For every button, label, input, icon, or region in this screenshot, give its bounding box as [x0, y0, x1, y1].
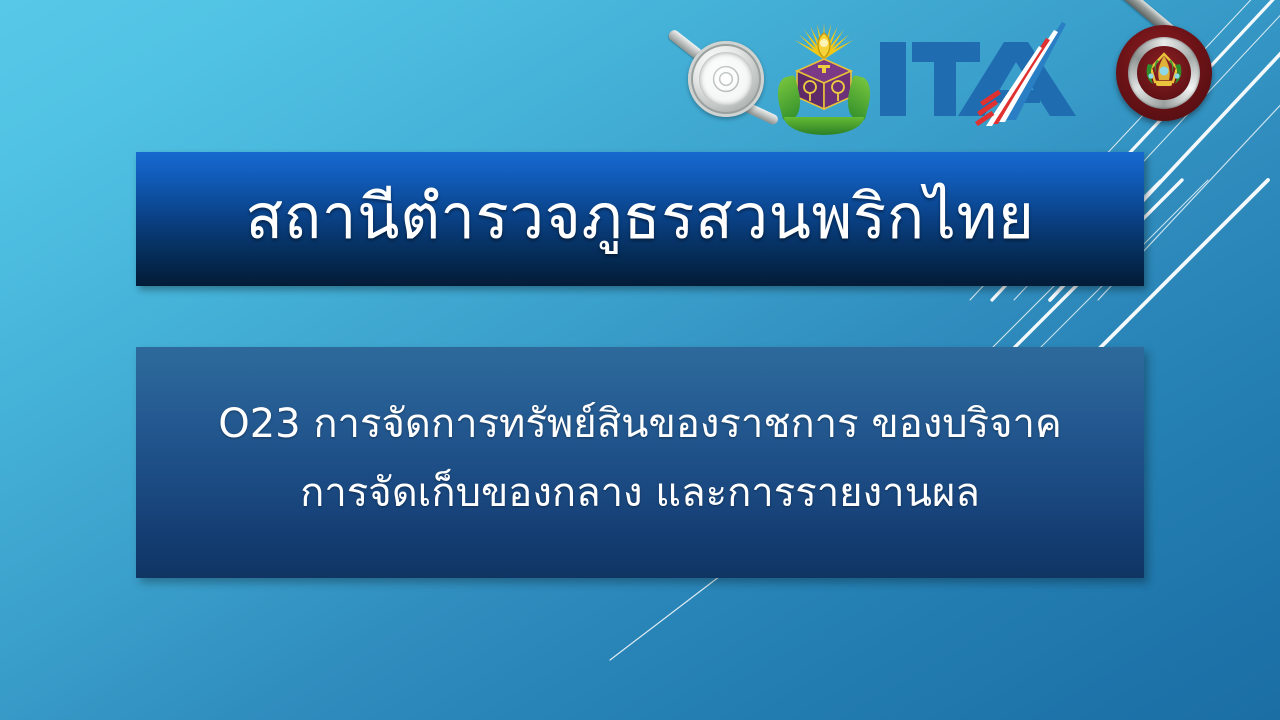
ita-logo: [876, 16, 1098, 136]
police-station-seal-icon: [1102, 11, 1220, 141]
silver-royal-medallion-seal-icon: [668, 13, 776, 139]
page-title: สถานีตำรวจภูธรสวนพริกไทย: [245, 185, 1034, 252]
subtitle-line-1: O23 การจัดการทรัพย์สินของราชการ ของบริจา…: [218, 390, 1062, 459]
ministry-of-interior-emblem-icon: [776, 15, 872, 137]
presentation-slide: สถานีตำรวจภูธรสวนพริกไทย O23 การจัดการทร…: [0, 0, 1280, 720]
slide-title-box: สถานีตำรวจภูธรสวนพริกไทย: [136, 152, 1144, 286]
emblem-row: [668, 8, 1268, 143]
subtitle-line-2: การจัดเก็บของกลาง และการรายงานผล: [300, 459, 980, 528]
slide-subtitle-box: O23 การจัดการทรัพย์สินของราชการ ของบริจา…: [136, 347, 1144, 578]
